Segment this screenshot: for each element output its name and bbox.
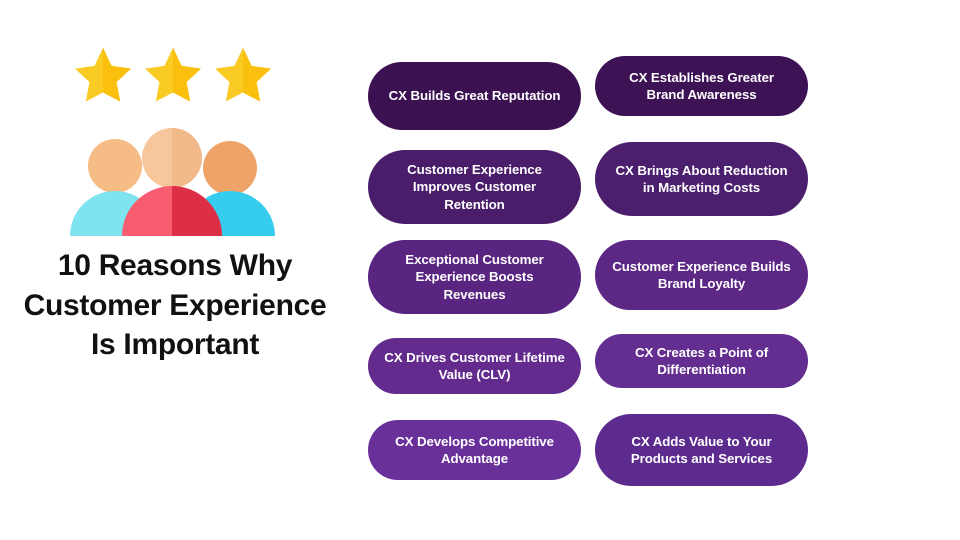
reason-card-10[interactable]: CX Adds Value to Your Products and Servi… [595, 414, 808, 486]
reason-card-2[interactable]: CX Establishes Greater Brand Awareness [595, 56, 808, 116]
reason-card-3[interactable]: Customer Experience Improves Customer Re… [368, 150, 581, 224]
reason-card-6[interactable]: Customer Experience Builds Brand Loyalty [595, 240, 808, 310]
reason-card-5[interactable]: Exceptional Customer Experience Boosts R… [368, 240, 581, 314]
reason-card-4[interactable]: CX Brings About Reduction in Marketing C… [595, 142, 808, 216]
reason-card-7[interactable]: CX Drives Customer Lifetime Value (CLV) [368, 338, 581, 394]
reasons-list: CX Builds Great Reputation CX Establishe… [0, 0, 960, 540]
reason-card-8[interactable]: CX Creates a Point of Differentiation [595, 334, 808, 388]
reason-card-9[interactable]: CX Develops Competitive Advantage [368, 420, 581, 480]
infographic-canvas: 10 Reasons Why Customer Experience Is Im… [0, 0, 960, 540]
reason-card-1[interactable]: CX Builds Great Reputation [368, 62, 581, 130]
